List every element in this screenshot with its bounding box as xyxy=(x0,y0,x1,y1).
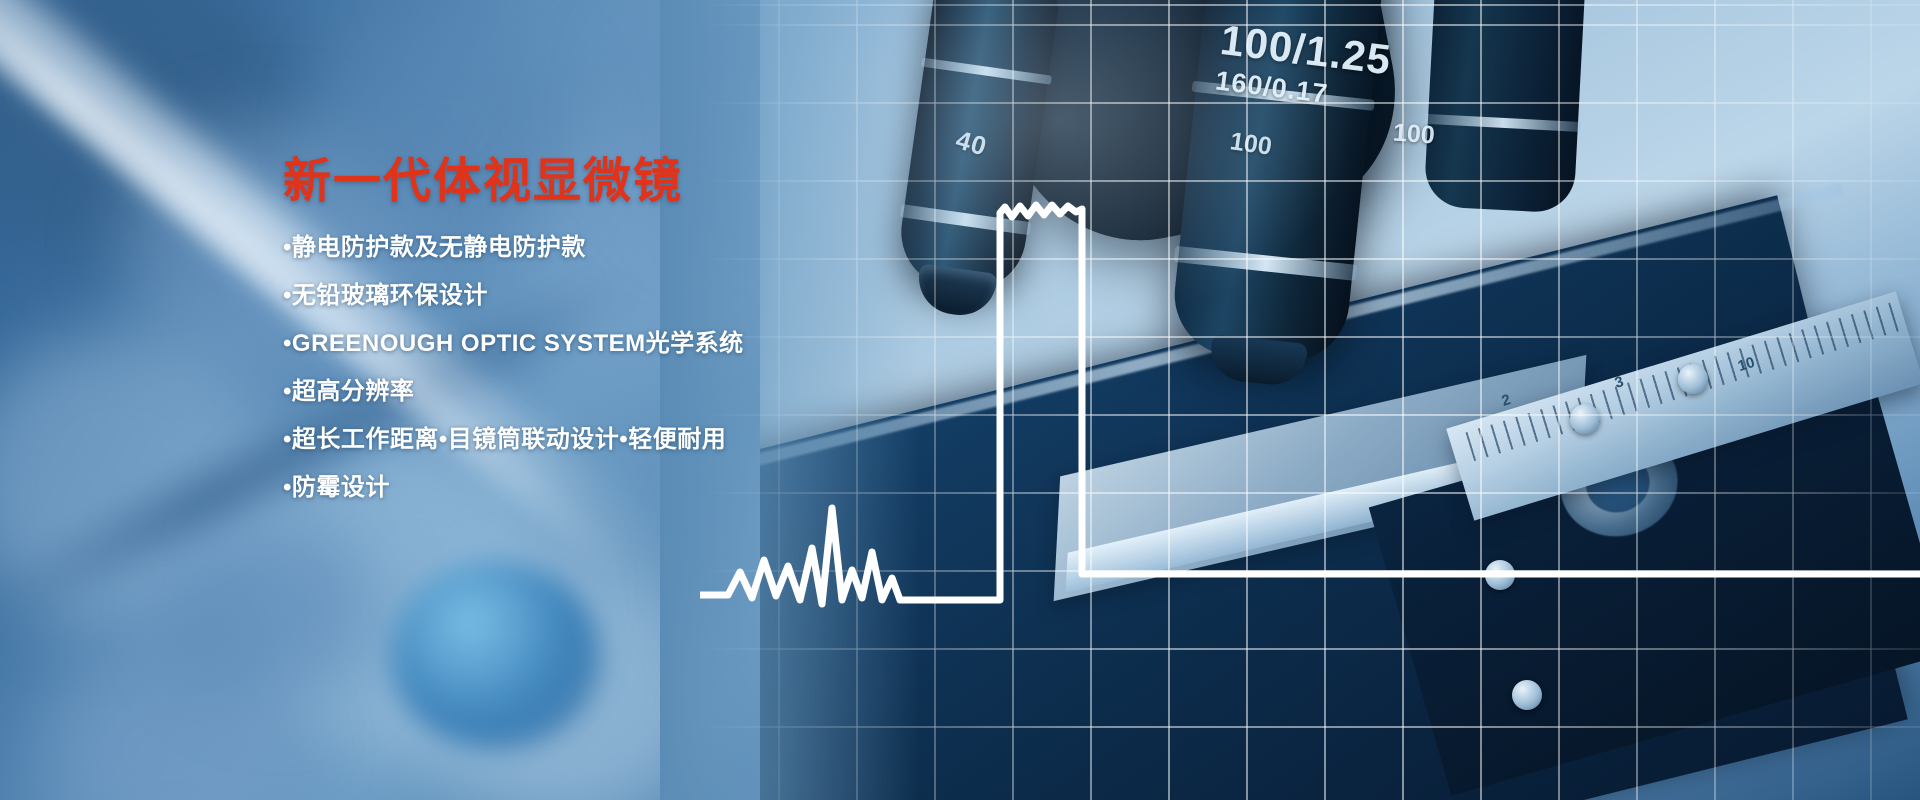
feature-item: •无铅玻璃环保设计 xyxy=(283,284,923,308)
stage-screw xyxy=(1512,680,1542,710)
feature-item: •超长工作距离•目镜筒联动设计•轻便耐用 xyxy=(283,428,923,452)
feature-item: •GREENOUGH OPTIC SYSTEM光学系统 xyxy=(283,332,923,356)
feature-list: •静电防护款及无静电防护款 •无铅玻璃环保设计 •GREENOUGH OPTIC… xyxy=(283,236,923,500)
lens-ring xyxy=(921,58,1052,85)
bokeh-blob xyxy=(175,520,375,700)
lens-magnification-100-right-label: 100 xyxy=(1392,119,1436,151)
lens-ring xyxy=(1174,246,1358,281)
objective-lens-right xyxy=(1423,0,1590,214)
lens-ring xyxy=(1425,114,1581,132)
page-title: 新一代体视显微镜 xyxy=(283,155,923,209)
feature-item: •防霉设计 xyxy=(283,476,923,500)
blurred-glass-orb xyxy=(390,560,600,750)
stage-screw xyxy=(1678,364,1708,394)
stage-screw xyxy=(1570,404,1600,434)
feature-item: •超高分辨率 xyxy=(283,380,923,404)
microscope-photo: 40 100/1.25 160/0.17 100 100 2 3 10 xyxy=(760,0,1920,800)
banner-copy: 新一代体视显微镜 •静电防护款及无静电防护款 •无铅玻璃环保设计 •GREENO… xyxy=(283,155,923,500)
stage-screw xyxy=(1485,560,1515,590)
feature-item: •静电防护款及无静电防护款 xyxy=(283,236,923,260)
lens-magnification-100-center-label: 100 xyxy=(1228,127,1273,162)
hero-banner: 40 100/1.25 160/0.17 100 100 2 3 10 新 xyxy=(0,0,1920,800)
